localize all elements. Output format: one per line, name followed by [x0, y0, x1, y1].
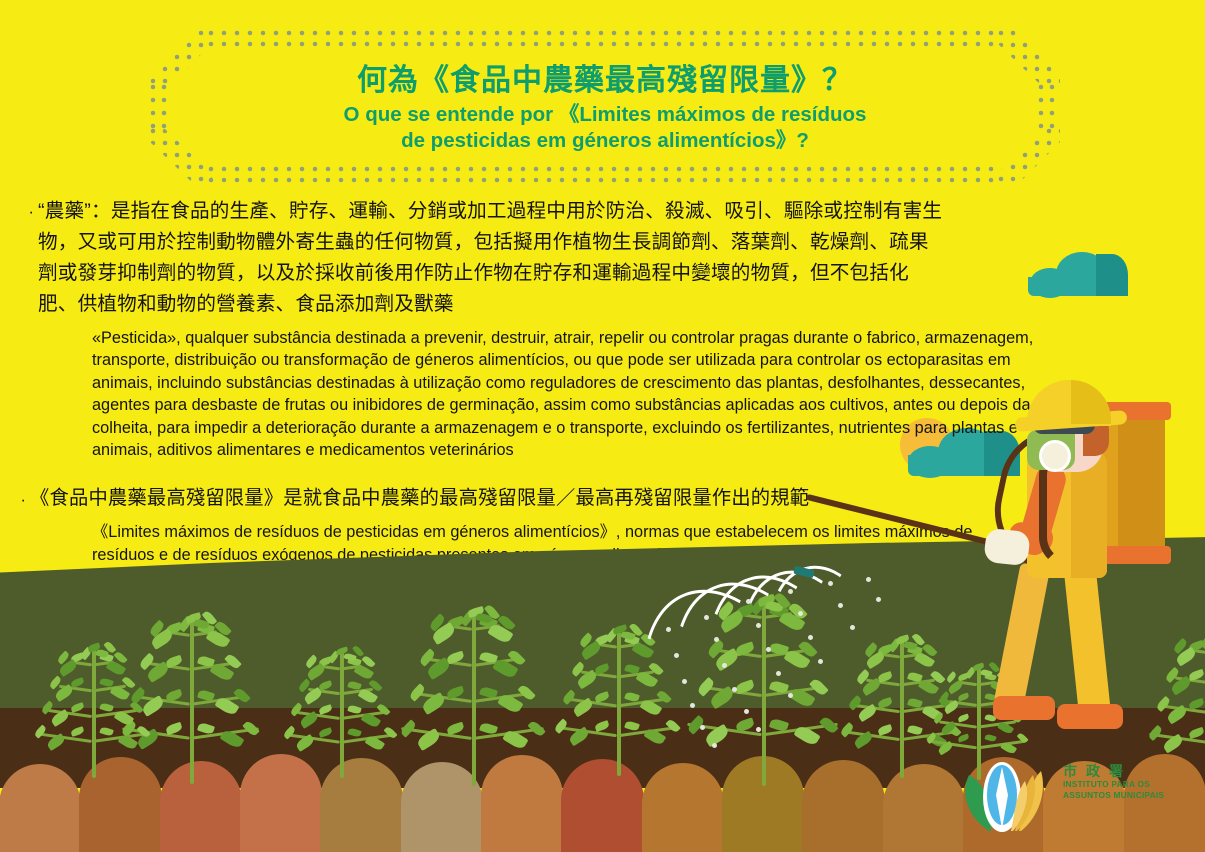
- spray-droplet: [798, 611, 803, 616]
- farmer-glove: [983, 528, 1030, 566]
- body-content: · “農藥”：是指在食品的生產、貯存、運輸、分銷或加工過程中用於防治、殺滅、吸引…: [0, 196, 1040, 566]
- spray-droplet: [746, 599, 751, 604]
- block-chinese-text: 《食品中農藥最高殘留限量》是就食品中農藥的最高殘留限量／最高再殘留限量作出的規範: [30, 484, 809, 515]
- plant-stem: [190, 618, 194, 784]
- plant-leaf: [347, 728, 361, 739]
- spray-droplet: [838, 603, 843, 608]
- spray-droplet: [682, 679, 687, 684]
- plant-leaf: [70, 726, 85, 737]
- plant-leaf: [33, 725, 47, 740]
- plant-leaf: [99, 726, 114, 737]
- plant-leaf: [318, 680, 332, 691]
- plant-leaf: [282, 726, 296, 740]
- spray-droplet: [850, 625, 855, 630]
- plant-leaf: [347, 704, 361, 715]
- title-chinese: 何為《食品中農藥最高殘留限量》？: [357, 64, 853, 99]
- plant-leaf: [446, 721, 465, 735]
- helmet-shade: [1071, 380, 1111, 424]
- spray-droplet: [756, 727, 761, 732]
- farmer-leg-front: [1063, 563, 1110, 714]
- spray-droplet: [700, 725, 705, 730]
- plant-stem: [340, 652, 344, 778]
- plant-leaf: [957, 693, 970, 702]
- plant-leaf: [594, 663, 610, 675]
- spray-droplet: [704, 615, 709, 620]
- spray-droplet: [776, 671, 781, 676]
- plant-leaf: [957, 734, 970, 743]
- spray-droplet: [722, 663, 727, 668]
- plant-leaf: [129, 700, 143, 715]
- spray-droplet: [744, 709, 749, 714]
- title-portuguese-line1: O que se entende por 《Limites máximos de…: [344, 102, 867, 128]
- plant-leaf: [303, 687, 323, 704]
- block-portuguese-text: «Pesticida», qualquer substância destina…: [92, 327, 1040, 461]
- plant: [268, 652, 418, 782]
- bullet-marker: ·: [0, 484, 30, 515]
- plant-leaf: [99, 702, 114, 713]
- logo-name-portuguese-line2: ASSUNTOS MUNICIPAIS: [1063, 790, 1164, 801]
- poster-canvas: 何為《食品中農藥最高殘留限量》？ O que se entende por 《L…: [0, 0, 1205, 852]
- content-row: · “農藥”：是指在食品的生產、貯存、運輸、分銷或加工過程中用於防治、殺滅、吸引…: [0, 196, 1040, 320]
- content-row: · 《食品中農藥最高殘留限量》是就食品中農藥的最高殘留限量／最高再殘留限量作出的…: [0, 484, 1040, 515]
- spray-droplet: [712, 743, 717, 748]
- plant-leaf: [233, 686, 251, 704]
- logo-flower-icon: [955, 757, 1060, 833]
- farmer-boot-back: [993, 696, 1055, 720]
- plant-leaf: [384, 726, 398, 740]
- plant-leaf: [561, 689, 577, 705]
- plant-leaf: [957, 713, 970, 722]
- cloud-shade: [1096, 254, 1128, 296]
- plant-leaf: [624, 720, 640, 732]
- plant: [20, 648, 170, 782]
- spray-droplet: [666, 627, 671, 632]
- plant-stem: [92, 648, 96, 778]
- farmer-illustration: [975, 378, 1205, 768]
- wand-nozzle: [793, 566, 814, 579]
- spray-droplet: [732, 687, 737, 692]
- spray-droplet: [674, 653, 679, 658]
- plant-leaf: [318, 704, 332, 715]
- spray-droplet: [690, 703, 695, 708]
- plant: [400, 612, 550, 790]
- header-text-group: 何為《食品中農藥最高殘留限量》？ O que se entende por 《L…: [150, 30, 1060, 188]
- logo-name-chinese: 市政署: [1063, 763, 1164, 779]
- plant-leaf: [594, 720, 610, 732]
- plant-leaf: [137, 725, 151, 740]
- plant-leaf: [70, 702, 85, 713]
- block-chinese-text: “農藥”：是指在食品的生產、貯存、運輸、分銷或加工過程中用於防治、殺滅、吸引、驅…: [38, 196, 943, 320]
- title-portuguese: O que se entende por 《Limites máximos de…: [344, 102, 867, 154]
- plant-leaf: [527, 719, 545, 738]
- spray-droplet: [766, 647, 771, 652]
- spray-droplet: [714, 637, 719, 642]
- content-block-pesticide: · “農藥”：是指在食品的生產、貯存、運輸、分銷或加工過程中用於防治、殺滅、吸引…: [0, 196, 1040, 461]
- plant-leaf: [553, 718, 569, 734]
- spray-droplet: [756, 623, 761, 628]
- bullet-marker: ·: [0, 196, 38, 320]
- logo-text-group: 市政署 INSTITUTO PARA OS ASSUNTOS MUNICIPAI…: [1063, 763, 1164, 800]
- respirator-filter-icon: [1039, 440, 1071, 472]
- spray-droplet: [818, 659, 823, 664]
- plant-leaf: [41, 700, 55, 715]
- farmer-leg-back: [994, 562, 1051, 707]
- plant-leaf: [243, 720, 261, 738]
- cloud-upper: [1028, 252, 1128, 296]
- title-portuguese-line2: de pesticidas em géneros alimentícios》?: [344, 128, 867, 154]
- logo-name-portuguese-line1: INSTITUTO PARA OS: [1063, 779, 1164, 790]
- spray-droplet: [788, 693, 793, 698]
- spray-mist: [660, 575, 940, 750]
- farmer-boot-front: [1057, 704, 1123, 729]
- spray-droplet: [808, 635, 813, 640]
- iam-logo[interactable]: 市政署 INSTITUTO PARA OS ASSUNTOS MUNICIPAI…: [955, 757, 1170, 837]
- header-dotted-frame: 何為《食品中農藥最高殘留限量》？ O que se entende por 《L…: [150, 30, 1060, 188]
- plant-leaf: [318, 728, 332, 739]
